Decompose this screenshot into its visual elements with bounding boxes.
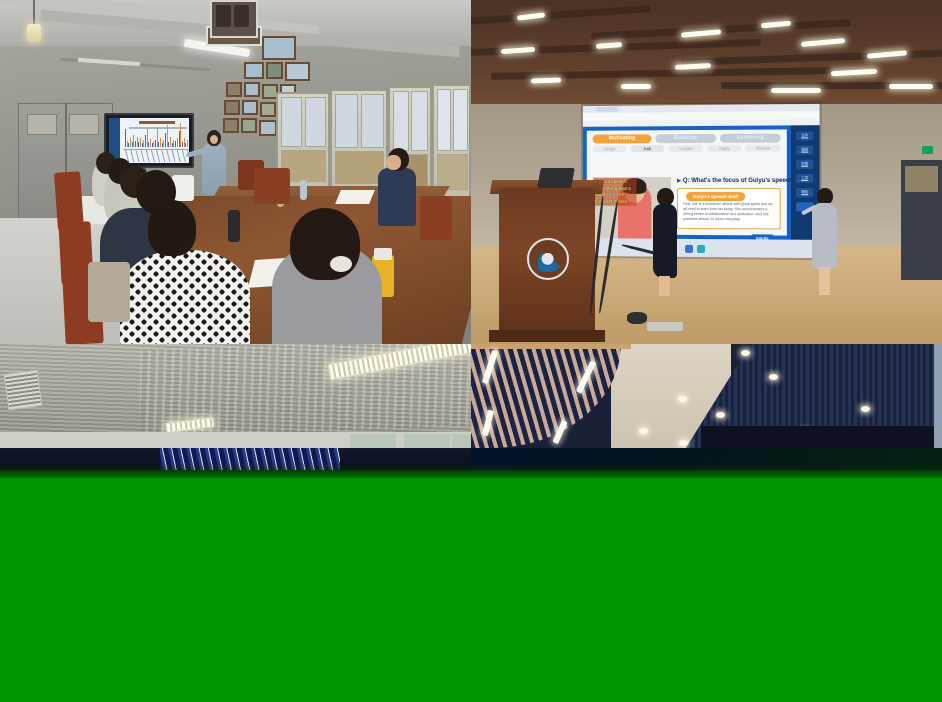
tab-review[interactable]: Review	[746, 145, 781, 152]
chart-bar	[153, 141, 154, 147]
chart-bar	[147, 129, 148, 147]
chart-bar	[160, 138, 161, 147]
projection-screen[interactable]: Motivating Enabling Assessing Assign Ask…	[583, 104, 820, 258]
audience-member-bag	[88, 262, 130, 322]
tab-ask[interactable]: Ask	[630, 145, 664, 152]
downlight	[861, 406, 870, 412]
handout-paper	[335, 190, 375, 204]
slide-question: Q: What's the focus of Guiyu's speech?	[677, 178, 797, 184]
presenter-left-dress	[653, 204, 677, 278]
downlight	[716, 412, 725, 418]
window-pane	[452, 434, 471, 448]
presenter-left-legs	[659, 276, 670, 296]
chart-bar	[145, 135, 146, 147]
chart-bar	[135, 141, 136, 147]
tab-motivating[interactable]: Motivating	[593, 134, 652, 143]
presenter-face	[210, 135, 218, 144]
chart-bar	[152, 143, 153, 147]
primary-tab-row[interactable]: Motivating Enabling Assessing	[593, 134, 781, 144]
chart-bar	[173, 140, 174, 147]
thermos-cup	[374, 248, 392, 260]
speech-draft-card: Guiyu's speech draft First, she is a won…	[677, 188, 781, 230]
chart-bar	[182, 142, 183, 147]
rail-item-tools[interactable]: 工具	[796, 174, 813, 183]
wood-floor-sliver	[471, 344, 631, 349]
chart-bar	[148, 142, 149, 147]
collage-stage: Motivating Enabling Assessing Assign Ask…	[0, 0, 942, 702]
downlight	[678, 396, 687, 402]
power-strip	[647, 322, 683, 331]
school-emblem	[527, 238, 569, 280]
chart-bar	[157, 127, 158, 147]
green-canvas	[0, 478, 942, 702]
slide-content: Motivating Enabling Assessing Assign Ask…	[587, 129, 787, 235]
presenter-right-legs	[819, 267, 830, 295]
meeting-room-photo[interactable]	[0, 0, 471, 344]
adapter-block	[627, 312, 647, 324]
chart-bar	[140, 138, 141, 147]
chart-bar	[127, 141, 128, 147]
chart-bar	[142, 143, 143, 147]
photo-right-edge	[934, 344, 942, 448]
chart-bar	[177, 138, 178, 147]
downlight	[769, 374, 778, 380]
audience-member-head	[148, 200, 196, 256]
seated-attendee-body	[378, 168, 416, 226]
chart-bar	[155, 140, 156, 147]
tab-acquire[interactable]: Acquire	[668, 145, 702, 152]
chart-bar	[185, 143, 186, 147]
chart-bar	[187, 140, 188, 147]
ceiling-light	[621, 84, 651, 89]
water-bottle	[300, 180, 307, 200]
seated-attendee-face	[386, 155, 401, 170]
chair	[420, 196, 452, 240]
downlight	[639, 428, 648, 434]
ceiling-air-vent	[4, 370, 43, 410]
downlight	[679, 440, 688, 446]
secondary-tab-row[interactable]: Assign Ask Acquire Apply Review	[593, 145, 781, 153]
lecture-hall-photo[interactable]: Motivating Enabling Assessing Assign Ask…	[471, 0, 942, 344]
rail-item-view[interactable]: 查看	[796, 160, 813, 169]
chart-bar	[125, 129, 126, 147]
window-pane	[350, 434, 396, 448]
ceiling-light	[771, 88, 821, 93]
chart-bar	[165, 133, 166, 147]
chart-bar	[180, 123, 181, 147]
chart-bar	[133, 135, 134, 147]
pendant-lamp	[33, 0, 35, 26]
card-title: Guiyu's speech draft	[686, 192, 745, 201]
chart-bar	[170, 137, 171, 147]
rail-item-file[interactable]: 文件	[796, 131, 813, 140]
ceiling-speaker	[210, 0, 258, 38]
chart-bar	[163, 140, 164, 147]
hair-tie	[330, 256, 352, 272]
ceiling-shadow-band	[701, 426, 934, 448]
tab-apply[interactable]: Apply	[707, 145, 742, 152]
ceiling-strip-left-photo[interactable]	[0, 344, 471, 448]
podium-base	[489, 330, 605, 342]
black-tumbler	[228, 210, 240, 242]
side-door[interactable]	[901, 160, 942, 280]
taskbar-app-icon[interactable]	[685, 245, 693, 253]
chart-bar	[167, 125, 168, 147]
presenter-right-dress	[812, 203, 837, 269]
audience-member-head	[290, 208, 360, 280]
ceiling-light	[531, 77, 561, 83]
chart-bar	[130, 138, 131, 147]
chart-bar	[128, 143, 129, 147]
chart-bar	[158, 142, 159, 147]
card-paragraph-1: First, she is a wonderful athlete with g…	[683, 202, 775, 223]
chart-bar	[175, 141, 176, 147]
bar-chart	[125, 119, 189, 147]
taskbar-browser-icon[interactable]	[697, 245, 705, 253]
chart-bar	[138, 142, 139, 147]
chart-bar	[179, 131, 180, 147]
podium-laptop	[537, 168, 575, 188]
chart-bar	[143, 140, 144, 147]
tab-enabling[interactable]: Enabling	[656, 134, 716, 143]
chart-bar	[184, 138, 185, 147]
upper-wall-edge	[0, 432, 471, 448]
polka-dot-pattern	[120, 250, 250, 344]
chair	[254, 168, 290, 204]
ceiling-strip-right-photo[interactable]	[471, 344, 942, 448]
presenter-left	[651, 188, 679, 300]
window-pane	[404, 434, 450, 448]
display-content	[109, 118, 189, 163]
chart-bar	[137, 137, 138, 147]
chart-bar	[168, 142, 169, 147]
presenter-right	[811, 188, 839, 304]
os-taskbar[interactable]	[583, 238, 820, 258]
chart-bar	[162, 143, 163, 147]
ceiling-light	[889, 84, 933, 89]
chart-bar	[150, 139, 151, 147]
rail-item-edit[interactable]: 编辑	[796, 146, 813, 155]
chart-bar	[172, 143, 173, 147]
downlight	[741, 350, 750, 356]
tab-assign[interactable]: Assign	[593, 145, 627, 152]
chart-x-tick-labels	[123, 150, 189, 162]
tab-assessing[interactable]: Assessing	[720, 134, 781, 143]
exit-sign-icon	[922, 146, 933, 154]
chart-bar	[132, 142, 133, 147]
